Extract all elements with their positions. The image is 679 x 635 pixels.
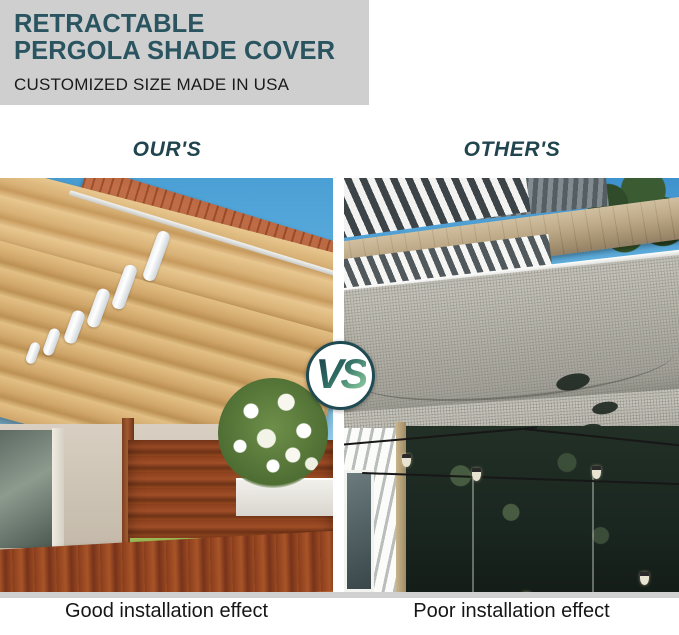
page-subtitle: CUSTOMIZED SIZE MADE IN USA — [14, 75, 369, 95]
light-bulb — [402, 454, 411, 467]
caption-good-installation: Good installation effect — [0, 600, 333, 623]
photo-good-installation — [0, 178, 333, 592]
support-pole — [472, 478, 474, 592]
vs-badge: VS — [306, 341, 375, 410]
dark-background-foliage — [399, 426, 679, 592]
caption-poor-installation: Poor installation effect — [344, 600, 679, 623]
page-title-line-2: PERGOLA SHADE COVER — [14, 38, 369, 65]
page-title: RETRACTABLE PERGOLA SHADE COVER — [14, 11, 369, 65]
door-frame — [52, 428, 64, 550]
label-ours: OUR'S — [0, 138, 334, 162]
window — [344, 470, 374, 592]
photo-captions: Good installation effect Poor installati… — [0, 600, 679, 635]
comparison-labels: OUR'S OTHER'S — [0, 138, 679, 172]
wood-trim-post — [396, 422, 406, 592]
scene-good — [0, 178, 333, 592]
label-others: OTHER'S — [345, 138, 679, 162]
scene-poor — [344, 178, 679, 592]
support-pole — [592, 468, 594, 592]
light-bulb — [592, 466, 601, 479]
footer-divider-strip — [0, 592, 679, 598]
light-bulb — [472, 468, 481, 481]
vs-badge-label: VS — [315, 353, 365, 395]
photo-poor-installation — [344, 178, 679, 592]
page-title-line-1: RETRACTABLE — [14, 10, 204, 38]
light-bulb — [640, 572, 649, 585]
header-banner: RETRACTABLE PERGOLA SHADE COVER CUSTOMIZ… — [0, 0, 369, 105]
